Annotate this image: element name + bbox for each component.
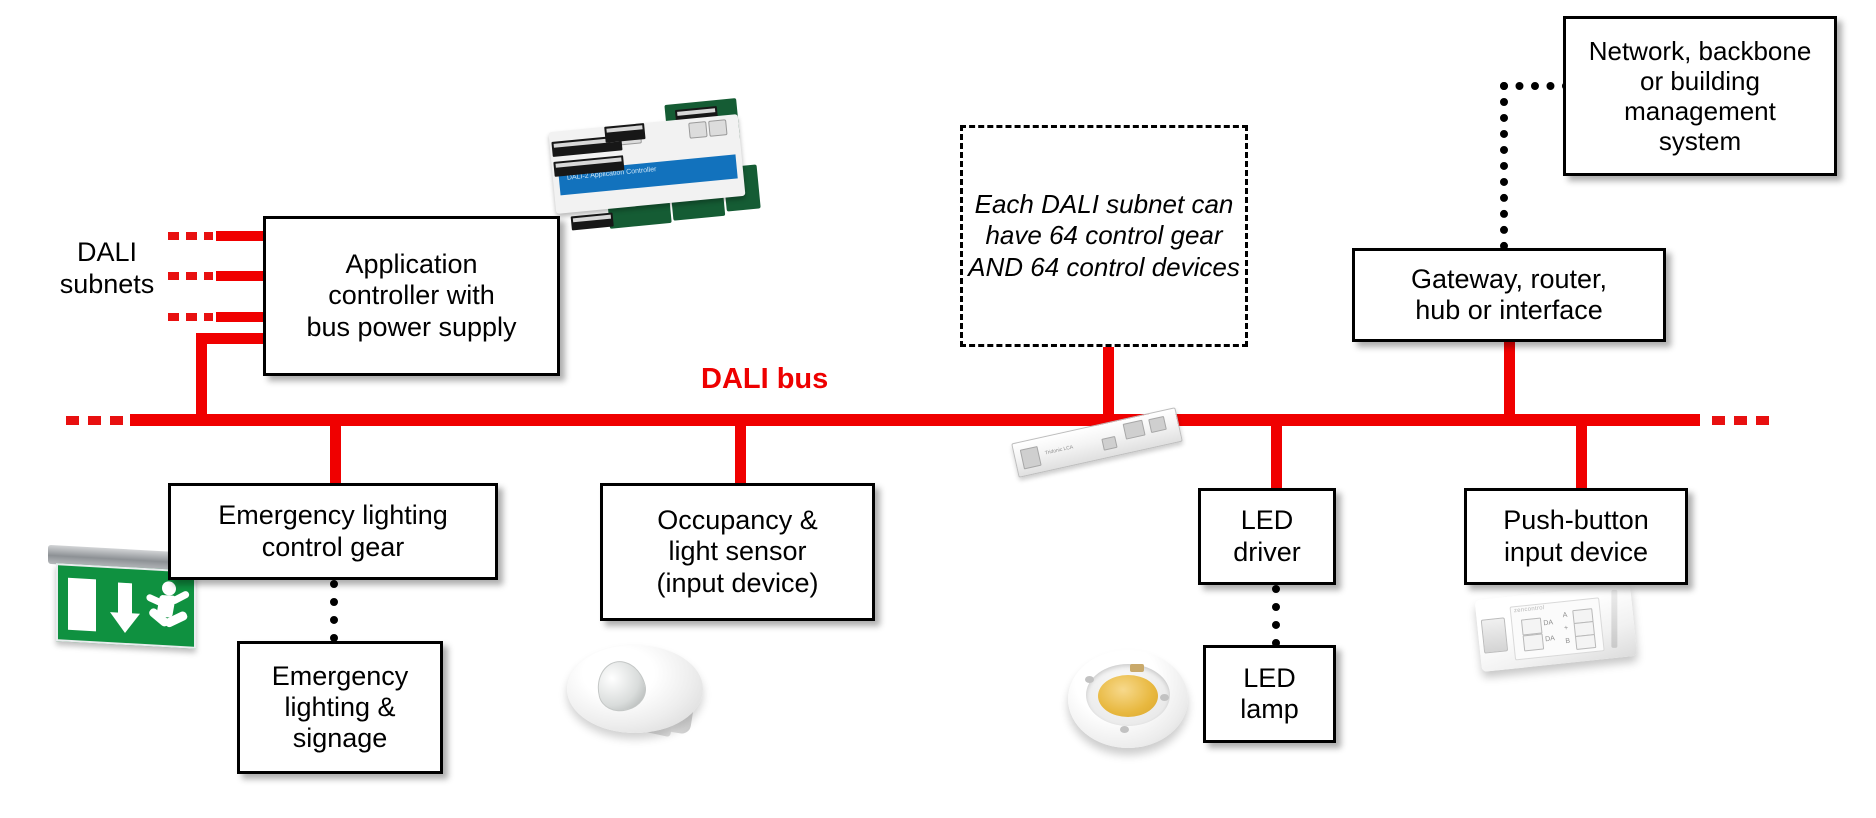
nb3: management [1583,96,1818,126]
subnet-3-dash-2 [186,313,197,321]
occupancy-sensor-photo [567,645,707,755]
controller-silver-button-1 [688,121,707,139]
push-button-label-plus: + [1564,625,1569,632]
dotted-link-network-to-gateway [1500,82,1508,250]
push-button-module-pin [1611,590,1617,648]
acl2: controller with [300,280,522,311]
controller-silver-button-2 [708,119,727,137]
cob-led-screw-hole-3 [1120,726,1129,733]
os1: Occupancy & [650,505,824,536]
bus-branch-led-driver [1271,420,1282,488]
cob-led-solder-pad [1130,664,1144,672]
driver-component-4 [1101,436,1117,451]
bus-branch-occupancy-sensor [735,420,746,483]
box-network-backbone-label: Network, backbone or building management… [1577,36,1824,157]
dali-bus-line [130,414,1700,426]
driver-component-1 [1020,446,1042,469]
acl3: bus power supply [300,312,522,343]
subnet-3-dash-3 [204,313,213,321]
din-rail-controller-photo: DALI-2 Application Controller [547,94,768,234]
cob-led-screw-hole-1 [1085,676,1094,683]
push-button-terminal-da2 [1523,633,1545,651]
box-push-button-label: Push-button input device [1491,505,1661,568]
nb2: or building [1583,66,1818,96]
pb1: Push-button [1497,505,1655,536]
acl1: Application [300,249,522,280]
subnet-2-dash-3 [204,272,213,280]
box-application-controller-label: Application controller with bus power su… [294,249,528,343]
bus-branch-callout [1103,344,1114,420]
col4: AND 64 control [968,252,1144,282]
push-button-module-photo: zencontrol DA DA A + B [1475,584,1638,672]
bus-branch-push-button [1576,420,1587,488]
gw2: hub or interface [1405,295,1613,326]
esg1: Emergency [266,661,415,692]
dali-system-diagram: DALI bus DALI subnets Application contro… [0,0,1876,818]
bus-right-dash-3 [1756,416,1769,425]
box-led-lamp[interactable]: LED lamp [1203,645,1336,743]
push-button-label-da1: DA [1543,619,1553,627]
pb2: input device [1497,537,1655,568]
box-emergency-control-gear-label: Emergency lighting control gear [206,500,460,563]
dotted-link-driver-to-lamp [1272,585,1280,647]
ll2: lamp [1234,694,1305,725]
dali-subnets-label-line2: subnets [32,269,182,301]
box-emergency-control-gear[interactable]: Emergency lighting control gear [168,483,498,580]
bus-right-dash-1 [1712,416,1725,425]
subnet-3-dash-1 [168,313,179,321]
esg2: lighting & [266,692,415,723]
dali-subnets-label-line1: DALI [32,237,182,269]
box-gateway[interactable]: Gateway, router, hub or interface [1352,248,1666,342]
bus-branch-emergency-gear [330,420,341,486]
subnet-1-dash-3 [204,232,213,240]
push-button-module-side-clip [1481,617,1508,653]
callout-text: Each DALI subnet can have 64 control gea… [963,189,1245,283]
box-gateway-label: Gateway, router, hub or interface [1399,264,1619,327]
os2: light sensor [650,536,824,567]
push-button-label-b: B [1565,638,1570,645]
box-emergency-signage[interactable]: Emergency lighting & signage [237,641,443,774]
box-led-driver-label: LED driver [1221,505,1313,568]
nb4: system [1583,126,1818,156]
bus-branch-gateway [1504,342,1515,420]
cob-led-screw-hole-2 [1160,694,1169,701]
subnet-1-dash-2 [186,232,197,240]
driver-component-2 [1123,420,1146,440]
callout-subnet-capacity: Each DALI subnet can have 64 control gea… [960,125,1248,347]
col3: 64 control gear [1049,220,1222,250]
gw1: Gateway, router, [1405,264,1613,295]
ecg2: control gear [212,532,454,563]
push-button-terminal-b [1575,634,1596,650]
box-application-controller[interactable]: Application controller with bus power su… [263,216,560,376]
box-push-button-input-device[interactable]: Push-button input device [1464,488,1688,585]
exit-sign-running-man-icon [146,580,192,641]
nb1: Network, backbone [1583,36,1818,66]
dali-subnets-label: DALI subnets [32,237,182,301]
box-emergency-signage-label: Emergency lighting & signage [260,661,421,755]
push-button-label-a: A [1562,612,1567,619]
ecg1: Emergency lighting [212,500,454,531]
bus-branch-application-controller [196,338,207,418]
dali-bus-label: DALI bus [701,363,828,396]
os3: (input device) [650,568,824,599]
driver-print-text: Tridonic LCA [1044,444,1073,456]
box-occupancy-sensor-label: Occupancy & light sensor (input device) [644,505,830,599]
esg3: signage [266,723,415,754]
col1: Each DALI [975,189,1099,219]
box-led-driver[interactable]: LED driver [1198,488,1336,585]
bus-right-dash-2 [1734,416,1747,425]
ld2: driver [1227,537,1307,568]
bus-left-dash-3 [110,416,123,425]
controller-terminal-block-4 [571,212,614,230]
ll1: LED [1234,663,1305,694]
driver-component-3 [1148,416,1167,433]
push-button-label-da2: DA [1545,635,1555,643]
cob-led-module-photo [1068,650,1188,748]
box-led-lamp-label: LED lamp [1228,663,1311,726]
bus-left-dash-1 [66,416,79,425]
subnet-2-dash-2 [186,272,197,280]
box-occupancy-sensor[interactable]: Occupancy & light sensor (input device) [600,483,875,621]
bus-left-dash-2 [88,416,101,425]
dotted-link-gear-to-signage [330,580,338,642]
dotted-link-network-elbow [1500,82,1570,90]
cob-led-emitter [1098,675,1158,717]
box-network-backbone[interactable]: Network, backbone or building management… [1563,16,1837,176]
col5: devices [1152,252,1240,282]
exit-sign-door-icon [68,578,96,632]
ld1: LED [1227,505,1307,536]
